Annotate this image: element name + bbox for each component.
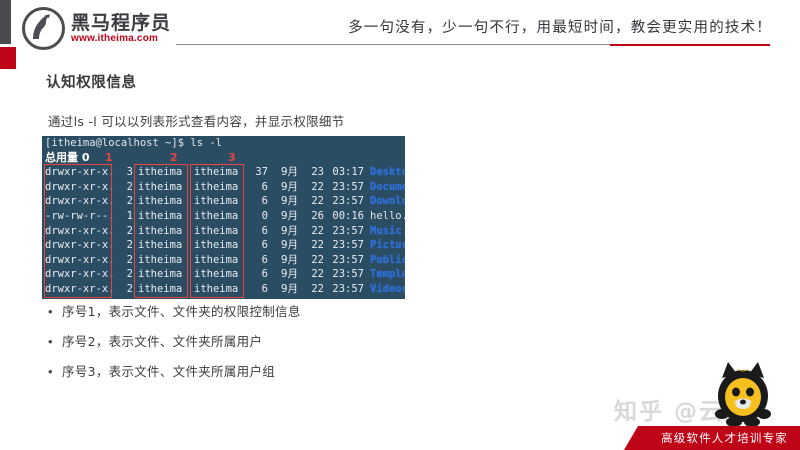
cell-name: Pictures — [370, 239, 405, 251]
cell-group: itheima — [190, 253, 246, 268]
cell-size: 6 — [246, 267, 268, 282]
bullet-list: •序号1，表示文件、文件夹的权限控制信息•序号2，表示文件、文件夹所属用户•序号… — [48, 303, 448, 393]
bullet-text: 序号2，表示文件、文件夹所属用户 — [62, 333, 262, 351]
cell-day: 22 — [298, 282, 324, 297]
terminal-row: drwxr-xr-x.2itheimaitheima69月2223:57Down… — [42, 194, 405, 209]
cell-month: 9月 — [268, 194, 298, 209]
cell-owner: itheima — [133, 238, 190, 253]
terminal-listing: drwxr-xr-x.3itheimaitheima379月2303:17Des… — [42, 165, 405, 296]
cell-permissions: drwxr-xr-x. — [45, 253, 112, 268]
cell-name: Music — [370, 225, 402, 237]
cell-permissions: drwxr-xr-x. — [45, 180, 112, 195]
header-tagline: 多一句没有，少一句不行，用最短时间，教会更实用的技术！ — [348, 16, 772, 37]
cell-size: 6 — [246, 180, 268, 195]
horse-glyph — [30, 13, 54, 42]
cell-size: 6 — [246, 253, 268, 268]
footer-band-text: 高级软件人才培训专家 — [661, 430, 788, 446]
bullet-marker: • — [48, 363, 62, 381]
bullet-item: •序号1，表示文件、文件夹的权限控制信息 — [48, 303, 448, 321]
cell-time: 23:57 — [324, 224, 370, 239]
cell-owner: itheima — [133, 253, 190, 268]
cell-month: 9月 — [268, 180, 298, 195]
cell-day: 22 — [298, 238, 324, 253]
terminal-row: drwxr-xr-x.2itheimaitheima69月2223:57Musi… — [42, 224, 405, 239]
slide-header: 黑马程序员 www.itheima.com 多一句没有，少一句不行，用最短时间，… — [0, 0, 800, 57]
annotation-number-2: 2 — [170, 151, 178, 164]
cell-owner: itheima — [133, 165, 190, 180]
cell-day: 22 — [298, 224, 324, 239]
cell-permissions: drwxr-xr-x. — [45, 282, 112, 297]
cell-time: 03:17 — [324, 165, 370, 180]
cell-month: 9月 — [268, 209, 298, 224]
cell-time: 23:57 — [324, 180, 370, 195]
cell-permissions: drwxr-xr-x. — [45, 165, 112, 180]
cell-size: 6 — [246, 194, 268, 209]
bullet-item: •序号2，表示文件、文件夹所属用户 — [48, 333, 448, 351]
cell-group: itheima — [190, 267, 246, 282]
cell-month: 9月 — [268, 238, 298, 253]
cell-links: 2 — [112, 224, 133, 239]
cell-name: Videos — [370, 283, 405, 295]
cell-owner: itheima — [133, 180, 190, 195]
brand-text: 黑马程序员 www.itheima.com — [71, 13, 171, 45]
cell-permissions: drwxr-xr-x. — [45, 238, 112, 253]
cell-links: 2 — [112, 180, 133, 195]
cell-time: 23:57 — [324, 238, 370, 253]
cell-group: itheima — [190, 282, 246, 297]
cell-links: 2 — [112, 253, 133, 268]
cell-links: 2 — [112, 267, 133, 282]
cell-permissions: drwxr-xr-x. — [45, 224, 112, 239]
cell-size: 6 — [246, 238, 268, 253]
terminal-row: drwxr-xr-x.2itheimaitheima69月2223:57Vide… — [42, 282, 405, 297]
bullet-text: 序号3，表示文件、文件夹所属用户组 — [62, 363, 275, 381]
cell-permissions: drwxr-xr-x. — [45, 267, 112, 282]
cell-name: Templates — [370, 268, 405, 280]
cell-day: 22 — [298, 194, 324, 209]
bullet-marker: • — [48, 333, 62, 351]
cell-name: Public — [370, 254, 405, 266]
annotation-number-3: 3 — [228, 151, 236, 164]
page-description: 通过ls -l 可以以列表形式查看内容，并显示权限细节 — [48, 111, 345, 130]
cell-owner: itheima — [133, 282, 190, 297]
terminal-prompt-line: [itheima@localhost ~]$ ls -l — [42, 136, 405, 151]
terminal-row: drwxr-xr-x.2itheimaitheima69月2223:57Pict… — [42, 238, 405, 253]
cell-name: Downloads — [370, 195, 405, 207]
cell-links: 2 — [112, 194, 133, 209]
header-rule-red — [610, 44, 770, 46]
cell-name: Desktop — [370, 166, 405, 178]
cell-day: 22 — [298, 267, 324, 282]
cell-name: hello.txt — [370, 210, 405, 222]
cell-owner: itheima — [133, 194, 190, 209]
annotation-number-1: 1 — [105, 151, 113, 164]
terminal-total-line: 总用量 0 — [42, 151, 405, 166]
cell-group: itheima — [190, 238, 246, 253]
terminal-row: drwxr-xr-x.2itheimaitheima69月2223:57Docu… — [42, 180, 405, 195]
cell-group: itheima — [190, 209, 246, 224]
cell-links: 3 — [112, 165, 133, 180]
brand-name: 黑马程序员 — [71, 13, 171, 33]
cell-day: 26 — [298, 209, 324, 224]
cell-group: itheima — [190, 165, 246, 180]
cell-day: 22 — [298, 180, 324, 195]
cell-size: 6 — [246, 282, 268, 297]
horse-head-icon — [22, 7, 65, 50]
cell-month: 9月 — [268, 165, 298, 180]
cell-links: 2 — [112, 282, 133, 297]
cell-day: 23 — [298, 165, 324, 180]
cell-month: 9月 — [268, 253, 298, 268]
terminal-window: [itheima@localhost ~]$ ls -l 总用量 0 drwxr… — [42, 136, 405, 299]
bullet-text: 序号1，表示文件、文件夹的权限控制信息 — [62, 303, 301, 321]
cell-owner: itheima — [133, 224, 190, 239]
cell-owner: itheima — [133, 209, 190, 224]
bullet-marker: • — [48, 303, 62, 321]
cell-group: itheima — [190, 180, 246, 195]
cell-time: 23:57 — [324, 194, 370, 209]
cell-time: 23:57 — [324, 267, 370, 282]
cell-size: 0 — [246, 209, 268, 224]
cell-time: 23:57 — [324, 282, 370, 297]
cell-links: 1 — [112, 209, 133, 224]
cell-owner: itheima — [133, 267, 190, 282]
footer-band: 高级软件人才培训专家 — [0, 426, 800, 450]
brand-logo: 黑马程序员 www.itheima.com — [22, 7, 171, 50]
cell-permissions: drwxr-xr-x. — [45, 194, 112, 209]
terminal-row: drwxr-xr-x.2itheimaitheima69月2223:57Publ… — [42, 253, 405, 268]
brand-url: www.itheima.com — [71, 33, 171, 45]
cell-day: 22 — [298, 253, 324, 268]
cell-month: 9月 — [268, 224, 298, 239]
terminal-row: drwxr-xr-x.3itheimaitheima379月2303:17Des… — [42, 165, 405, 180]
cell-name: Documents — [370, 181, 405, 193]
bullet-item: •序号3，表示文件、文件夹所属用户组 — [48, 363, 448, 381]
page-title: 认知权限信息 — [46, 71, 137, 92]
cell-size: 37 — [246, 165, 268, 180]
cell-time: 23:57 — [324, 253, 370, 268]
cell-group: itheima — [190, 224, 246, 239]
footer-band-notch — [584, 426, 624, 450]
terminal-row: drwxr-xr-x.2itheimaitheima69月2223:57Temp… — [42, 267, 405, 282]
cell-size: 6 — [246, 224, 268, 239]
terminal-row: -rw-rw-r--.1itheimaitheima09月2600:16hell… — [42, 209, 405, 224]
cell-group: itheima — [190, 194, 246, 209]
cell-time: 00:16 — [324, 209, 370, 224]
cell-month: 9月 — [268, 282, 298, 297]
mascot-icon — [706, 356, 780, 430]
cell-links: 2 — [112, 238, 133, 253]
cell-permissions: -rw-rw-r--. — [45, 209, 112, 224]
cell-month: 9月 — [268, 267, 298, 282]
slide-root: 黑马程序员 www.itheima.com 多一句没有，少一句不行，用最短时间，… — [0, 0, 800, 450]
